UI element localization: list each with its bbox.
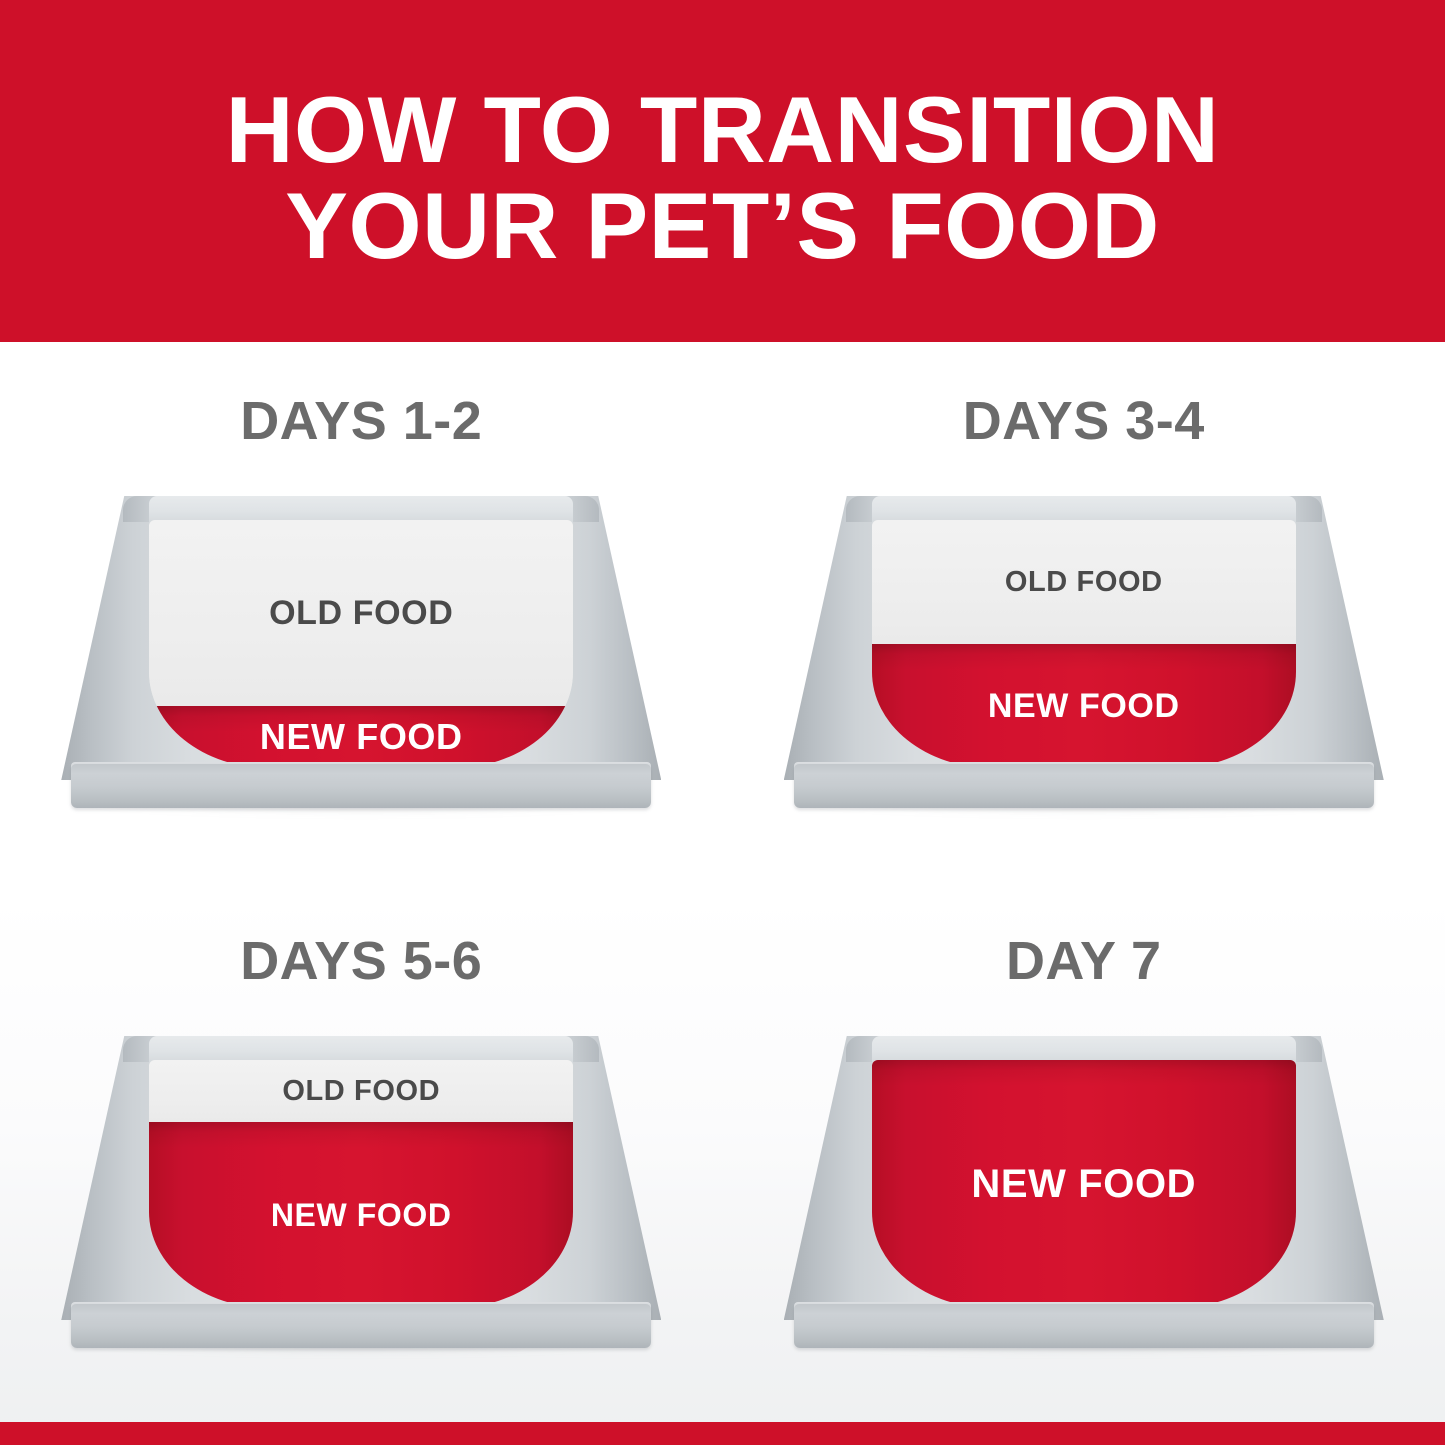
new-food-fill: NEW FOOD bbox=[149, 1122, 573, 1308]
step-title: DAYS 1-2 bbox=[240, 394, 482, 448]
header-banner: HOW TO TRANSITION YOUR PET’S FOOD bbox=[0, 0, 1445, 342]
infographic-page: HOW TO TRANSITION YOUR PET’S FOOD DAYS 1… bbox=[0, 0, 1445, 1445]
old-food-label: OLD FOOD bbox=[282, 1075, 440, 1108]
step-card-days-1-2: DAYS 1-2 OLD FOOD NEW FOOD bbox=[0, 342, 723, 882]
step-card-days-3-4: DAYS 3-4 OLD FOOD NEW FOOD bbox=[723, 342, 1445, 882]
old-food-fill: OLD FOOD bbox=[149, 1060, 573, 1122]
food-bowl: NEW FOOD bbox=[784, 1026, 1384, 1366]
food-bowl: OLD FOOD NEW FOOD bbox=[784, 486, 1384, 826]
page-title-line-1: HOW TO TRANSITION bbox=[226, 82, 1220, 178]
step-title: DAYS 5-6 bbox=[240, 934, 482, 988]
old-food-label: OLD FOOD bbox=[1005, 566, 1163, 599]
new-food-label: NEW FOOD bbox=[271, 1197, 452, 1234]
step-title: DAYS 3-4 bbox=[963, 394, 1205, 448]
transition-steps-grid: DAYS 1-2 OLD FOOD NEW FOOD bbox=[0, 342, 1445, 1422]
new-food-fill: NEW FOOD bbox=[872, 1060, 1296, 1308]
bowl-base bbox=[71, 764, 651, 808]
old-food-fill: OLD FOOD bbox=[149, 520, 573, 706]
new-food-label: NEW FOOD bbox=[988, 687, 1180, 726]
food-bowl: OLD FOOD NEW FOOD bbox=[61, 486, 661, 826]
bowl-cavity: OLD FOOD NEW FOOD bbox=[149, 1060, 573, 1308]
food-bowl: OLD FOOD NEW FOOD bbox=[61, 1026, 661, 1366]
new-food-label: NEW FOOD bbox=[260, 716, 463, 758]
new-food-label: NEW FOOD bbox=[971, 1162, 1196, 1207]
footer-strip bbox=[0, 1422, 1445, 1445]
step-card-day-7: DAY 7 NEW FOOD bbox=[723, 882, 1445, 1422]
step-title: DAY 7 bbox=[1006, 934, 1162, 988]
old-food-fill: OLD FOOD bbox=[872, 520, 1296, 644]
new-food-fill: NEW FOOD bbox=[872, 644, 1296, 768]
old-food-label: OLD FOOD bbox=[269, 594, 453, 633]
new-food-fill: NEW FOOD bbox=[149, 706, 573, 768]
page-title-line-2: YOUR PET’S FOOD bbox=[285, 178, 1159, 274]
bowl-cavity: OLD FOOD NEW FOOD bbox=[872, 520, 1296, 768]
bowl-cavity: NEW FOOD bbox=[872, 1060, 1296, 1308]
bowl-base bbox=[794, 1304, 1374, 1348]
step-card-days-5-6: DAYS 5-6 OLD FOOD NEW FOOD bbox=[0, 882, 723, 1422]
bowl-base bbox=[794, 764, 1374, 808]
bowl-base bbox=[71, 1304, 651, 1348]
bowl-cavity: OLD FOOD NEW FOOD bbox=[149, 520, 573, 768]
